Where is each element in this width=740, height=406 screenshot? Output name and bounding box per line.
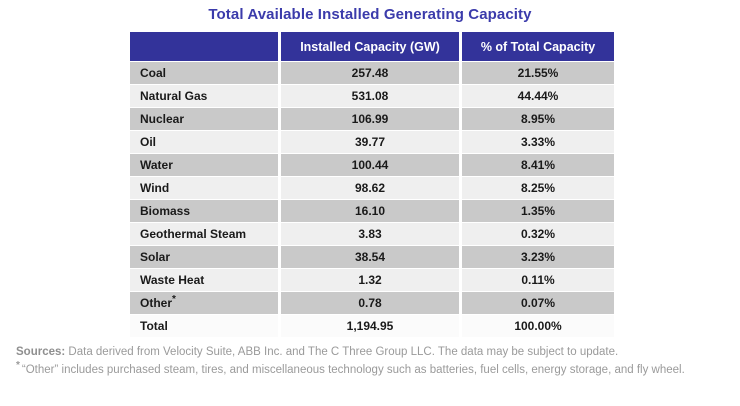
sources-label: Sources: — [16, 346, 65, 358]
capacity-table-page: Total Available Installed Generating Cap… — [0, 0, 740, 406]
column-header-source — [130, 32, 278, 61]
cell-source: Geothermal Steam — [130, 223, 278, 245]
cell-installed-capacity: 100.44 — [281, 154, 459, 176]
cell-percent-of-total: 8.25% — [462, 177, 614, 199]
footnote-marker-asterisk: * — [16, 360, 20, 371]
table-row: Coal257.4821.55% — [130, 62, 614, 84]
other-footnote-text: “Other” includes purchased steam, tires,… — [22, 364, 685, 376]
column-header-percent-of-total: % of Total Capacity — [462, 32, 614, 61]
footnotes: Sources: Data derived from Velocity Suit… — [16, 344, 728, 379]
footnote-marker-asterisk: * — [172, 294, 176, 305]
cell-installed-capacity: 98.62 — [281, 177, 459, 199]
cell-source: Coal — [130, 62, 278, 84]
cell-percent-of-total: 1.35% — [462, 200, 614, 222]
cell-percent-of-total: 3.33% — [462, 131, 614, 153]
table-row: Wind98.628.25% — [130, 177, 614, 199]
table-row: Nuclear106.998.95% — [130, 108, 614, 130]
cell-installed-capacity: 1,194.95 — [281, 315, 459, 337]
cell-percent-of-total: 44.44% — [462, 85, 614, 107]
cell-source: Other* — [130, 292, 278, 314]
table-row: Oil39.773.33% — [130, 131, 614, 153]
table-row: Water100.448.41% — [130, 154, 614, 176]
cell-installed-capacity: 16.10 — [281, 200, 459, 222]
table-header: Installed Capacity (GW) % of Total Capac… — [130, 32, 614, 61]
cell-percent-of-total: 0.32% — [462, 223, 614, 245]
sources-text: Data derived from Velocity Suite, ABB In… — [68, 346, 618, 358]
cell-percent-of-total: 3.23% — [462, 246, 614, 268]
table-row: Solar38.543.23% — [130, 246, 614, 268]
cell-percent-of-total: 0.11% — [462, 269, 614, 291]
table-row: Biomass16.101.35% — [130, 200, 614, 222]
other-footnote-line: *“Other” includes purchased steam, tires… — [16, 362, 728, 379]
cell-installed-capacity: 0.78 — [281, 292, 459, 314]
table-row: Waste Heat1.320.11% — [130, 269, 614, 291]
cell-source: Solar — [130, 246, 278, 268]
table-header-row: Installed Capacity (GW) % of Total Capac… — [130, 32, 614, 61]
cell-installed-capacity: 1.32 — [281, 269, 459, 291]
cell-percent-of-total: 21.55% — [462, 62, 614, 84]
cell-installed-capacity: 106.99 — [281, 108, 459, 130]
generating-capacity-table-wrapper: Installed Capacity (GW) % of Total Capac… — [127, 31, 608, 338]
table-row: Geothermal Steam3.830.32% — [130, 223, 614, 245]
cell-percent-of-total: 8.41% — [462, 154, 614, 176]
cell-source: Biomass — [130, 200, 278, 222]
cell-source: Nuclear — [130, 108, 278, 130]
cell-percent-of-total: 0.07% — [462, 292, 614, 314]
sources-line: Sources: Data derived from Velocity Suit… — [16, 344, 728, 361]
cell-installed-capacity: 531.08 — [281, 85, 459, 107]
cell-source: Waste Heat — [130, 269, 278, 291]
column-header-installed-capacity: Installed Capacity (GW) — [281, 32, 459, 61]
cell-source: Water — [130, 154, 278, 176]
table-row: Natural Gas531.0844.44% — [130, 85, 614, 107]
generating-capacity-table: Installed Capacity (GW) % of Total Capac… — [127, 31, 617, 338]
cell-source: Wind — [130, 177, 278, 199]
cell-percent-of-total: 8.95% — [462, 108, 614, 130]
cell-source: Total — [130, 315, 278, 337]
table-row-total: Total1,194.95100.00% — [130, 315, 614, 337]
table-row: Other*0.780.07% — [130, 292, 614, 314]
cell-source: Oil — [130, 131, 278, 153]
cell-installed-capacity: 38.54 — [281, 246, 459, 268]
cell-installed-capacity: 39.77 — [281, 131, 459, 153]
cell-installed-capacity: 257.48 — [281, 62, 459, 84]
page-title: Total Available Installed Generating Cap… — [0, 6, 740, 23]
table-body: Coal257.4821.55%Natural Gas531.0844.44%N… — [130, 62, 614, 337]
cell-source: Natural Gas — [130, 85, 278, 107]
cell-installed-capacity: 3.83 — [281, 223, 459, 245]
cell-percent-of-total: 100.00% — [462, 315, 614, 337]
